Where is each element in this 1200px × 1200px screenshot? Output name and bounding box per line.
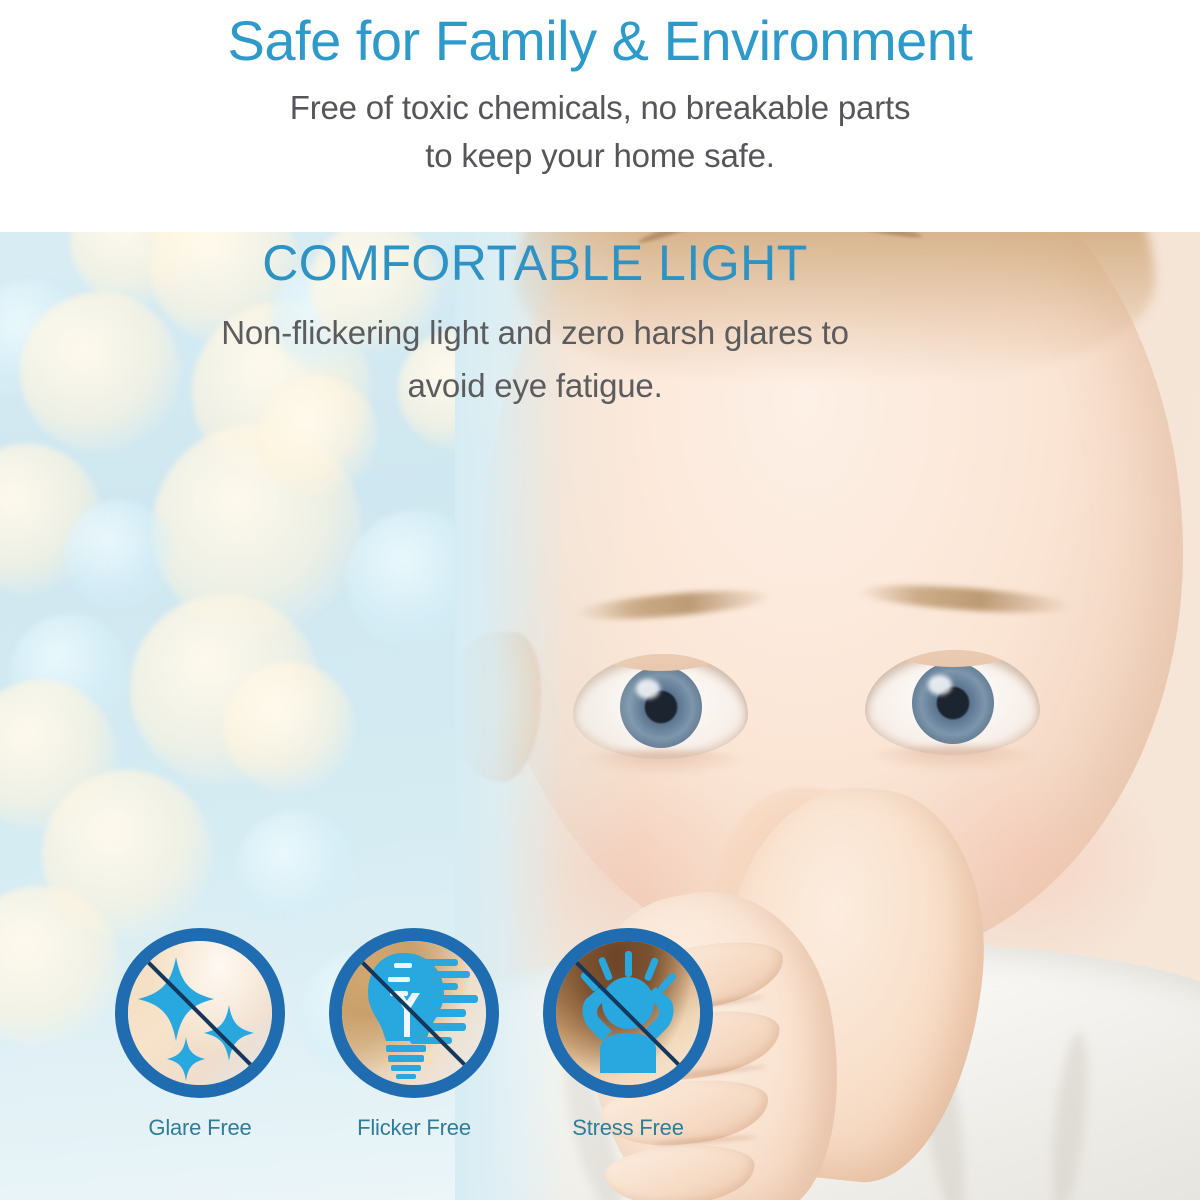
- main-subtext-line-2: avoid eye fatigue.: [0, 359, 1070, 412]
- badge-label: Stress Free: [543, 1115, 713, 1141]
- main-subtext: Non-flickering light and zero harsh glar…: [0, 306, 1070, 412]
- top-white-band: Safe for Family & Environment Free of to…: [0, 0, 1200, 232]
- badge-circle: [115, 928, 285, 1098]
- badge-circle: [329, 928, 499, 1098]
- main-subtext-line-1: Non-flickering light and zero harsh glar…: [0, 306, 1070, 359]
- top-subtext: Free of toxic chemicals, no breakable pa…: [0, 84, 1200, 180]
- top-subtext-line-1: Free of toxic chemicals, no breakable pa…: [0, 84, 1200, 132]
- badge-label: Glare Free: [115, 1115, 285, 1141]
- photo-scene: COMFORTABLE LIGHT Non-flickering light a…: [0, 210, 1200, 1200]
- product-feature-banner: COMFORTABLE LIGHT Non-flickering light a…: [0, 0, 1200, 1200]
- badge-stress-free[interactable]: Stress Free: [543, 928, 713, 1141]
- top-headline: Safe for Family & Environment: [0, 8, 1200, 74]
- badge-label: Flicker Free: [329, 1115, 499, 1141]
- badge-circle: [543, 928, 713, 1098]
- feature-badge-row: Glare Free: [115, 928, 805, 1141]
- comfortable-light-block: COMFORTABLE LIGHT Non-flickering light a…: [0, 232, 1070, 412]
- badge-flicker-free[interactable]: Flicker Free: [329, 928, 499, 1141]
- top-subtext-line-2: to keep your home safe.: [0, 132, 1200, 180]
- main-headline: COMFORTABLE LIGHT: [0, 232, 1070, 294]
- badge-glare-free[interactable]: Glare Free: [115, 928, 285, 1141]
